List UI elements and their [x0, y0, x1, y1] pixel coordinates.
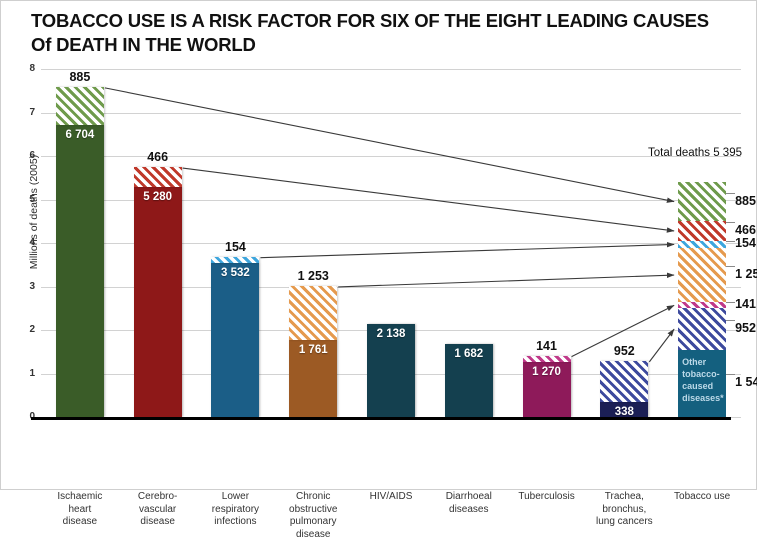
- bar-segment-solid[interactable]: 5 280: [134, 187, 182, 417]
- bar-segment-solid[interactable]: 6 704: [56, 125, 104, 417]
- bar-top-label: 1 253: [275, 269, 351, 283]
- bar-top-label: 952: [586, 344, 662, 358]
- stack-segment[interactable]: [678, 302, 726, 308]
- bar-segment-hatched[interactable]: [600, 361, 648, 402]
- bar-group[interactable]: 338952: [600, 361, 648, 417]
- bar-segment-hatched[interactable]: [134, 167, 182, 187]
- bar-group[interactable]: 3 532154: [211, 257, 259, 417]
- stack-segment[interactable]: [678, 182, 726, 220]
- stacked-bar-tobacco-use[interactable]: Other tobacco-caused diseases*: [678, 182, 726, 417]
- x-axis-label: Tobacco use: [665, 491, 739, 504]
- bar-segment-solid[interactable]: 2 138: [367, 324, 415, 417]
- bar-group[interactable]: 2 138: [367, 324, 415, 417]
- bar-group[interactable]: 1 682: [445, 344, 493, 417]
- stack-value-tick: [726, 193, 735, 194]
- y-tick-label: 6: [21, 150, 35, 161]
- bar-segment-hatched[interactable]: [211, 257, 259, 264]
- y-tick-label: 1: [21, 368, 35, 379]
- bar-value-label: 1 270: [523, 366, 571, 378]
- total-deaths-annotation: Total deaths 5 395: [648, 147, 742, 159]
- x-axis-label: Tuberculosis: [510, 491, 584, 504]
- stack-value-label: 1 253: [735, 267, 757, 281]
- stack-value-tick: [726, 266, 735, 267]
- bar-value-label: 5 280: [134, 191, 182, 203]
- bar-top-label: 141: [509, 339, 585, 353]
- y-tick-label: 7: [21, 107, 35, 118]
- x-axis-label: Trachea,bronchus,lung cancers: [587, 491, 661, 529]
- stack-value-label: 885: [735, 194, 756, 208]
- bar-segment-hatched[interactable]: [289, 286, 337, 341]
- bar-segment-solid[interactable]: 338: [600, 402, 648, 417]
- bar-value-label: 1 761: [289, 344, 337, 356]
- x-axis-label: Ischaemicheartdisease: [43, 491, 117, 529]
- bar-value-label: 3 532: [211, 267, 259, 279]
- stack-value-tick: [726, 320, 735, 321]
- bar-top-label: 885: [42, 70, 118, 84]
- bar-segment-solid[interactable]: 1 270: [523, 362, 571, 417]
- gridline: [41, 113, 741, 114]
- bar-group[interactable]: 1 7611 253: [289, 286, 337, 417]
- chart-root: TOBACCO USE IS A RISK FACTOR FOR SIX OF …: [1, 1, 756, 489]
- x-axis-label: HIV/AIDS: [354, 491, 428, 504]
- bar-segment-solid[interactable]: 3 532: [211, 263, 259, 417]
- stack-value-tick: [726, 374, 735, 375]
- other-diseases-caption: Other tobacco-caused diseases*: [682, 356, 723, 405]
- x-axis-label: Chronicobstructivepulmonarydisease: [276, 491, 350, 541]
- plot-area: 012345678 6 7048855 2804663 5321541 7611…: [41, 69, 741, 417]
- x-axis-label: Diarrhoealdiseases: [432, 491, 506, 516]
- stack-value-label: 466: [735, 223, 756, 237]
- y-tick-label: 5: [21, 194, 35, 205]
- y-tick-label: 3: [21, 281, 35, 292]
- stack-segment[interactable]: [678, 241, 726, 248]
- bar-segment-hatched[interactable]: [56, 87, 104, 125]
- x-axis-label: Cerebro-vasculardisease: [121, 491, 195, 529]
- page-title: TOBACCO USE IS A RISK FACTOR FOR SIX OF …: [31, 9, 731, 56]
- bar-segment-solid[interactable]: 1 682: [445, 344, 493, 417]
- stack-value-tick: [726, 241, 735, 242]
- bar-top-label: 154: [197, 240, 273, 254]
- stack-segment[interactable]: [678, 308, 726, 349]
- stack-segment[interactable]: Other tobacco-caused diseases*: [678, 350, 726, 417]
- stack-value-label: 154: [735, 236, 756, 250]
- stack-segment[interactable]: [678, 221, 726, 241]
- gridline: [41, 69, 741, 70]
- stack-value-label: 141: [735, 297, 756, 311]
- x-axis-label: Lowerrespiratoryinfections: [199, 491, 273, 529]
- bar-top-label: 466: [120, 150, 196, 164]
- stack-segment[interactable]: [678, 248, 726, 303]
- stack-value-tick: [726, 222, 735, 223]
- bar-group[interactable]: 6 704885: [56, 87, 104, 417]
- y-tick-label: 2: [21, 324, 35, 335]
- bar-group[interactable]: 5 280466: [134, 167, 182, 417]
- bar-value-label: 1 682: [445, 348, 493, 360]
- y-tick-label: 4: [21, 237, 35, 248]
- x-axis-line: [31, 417, 731, 420]
- bar-group[interactable]: 1 270141: [523, 356, 571, 417]
- bar-segment-solid[interactable]: 1 761: [289, 340, 337, 417]
- bar-value-label: 6 704: [56, 129, 104, 141]
- stack-value-label: 952: [735, 321, 756, 335]
- stack-value-label: 1 544: [735, 375, 757, 389]
- bar-segment-hatched[interactable]: [523, 356, 571, 362]
- stack-value-tick: [726, 302, 735, 303]
- bar-value-label: 2 138: [367, 328, 415, 340]
- y-tick-label: 8: [21, 63, 35, 74]
